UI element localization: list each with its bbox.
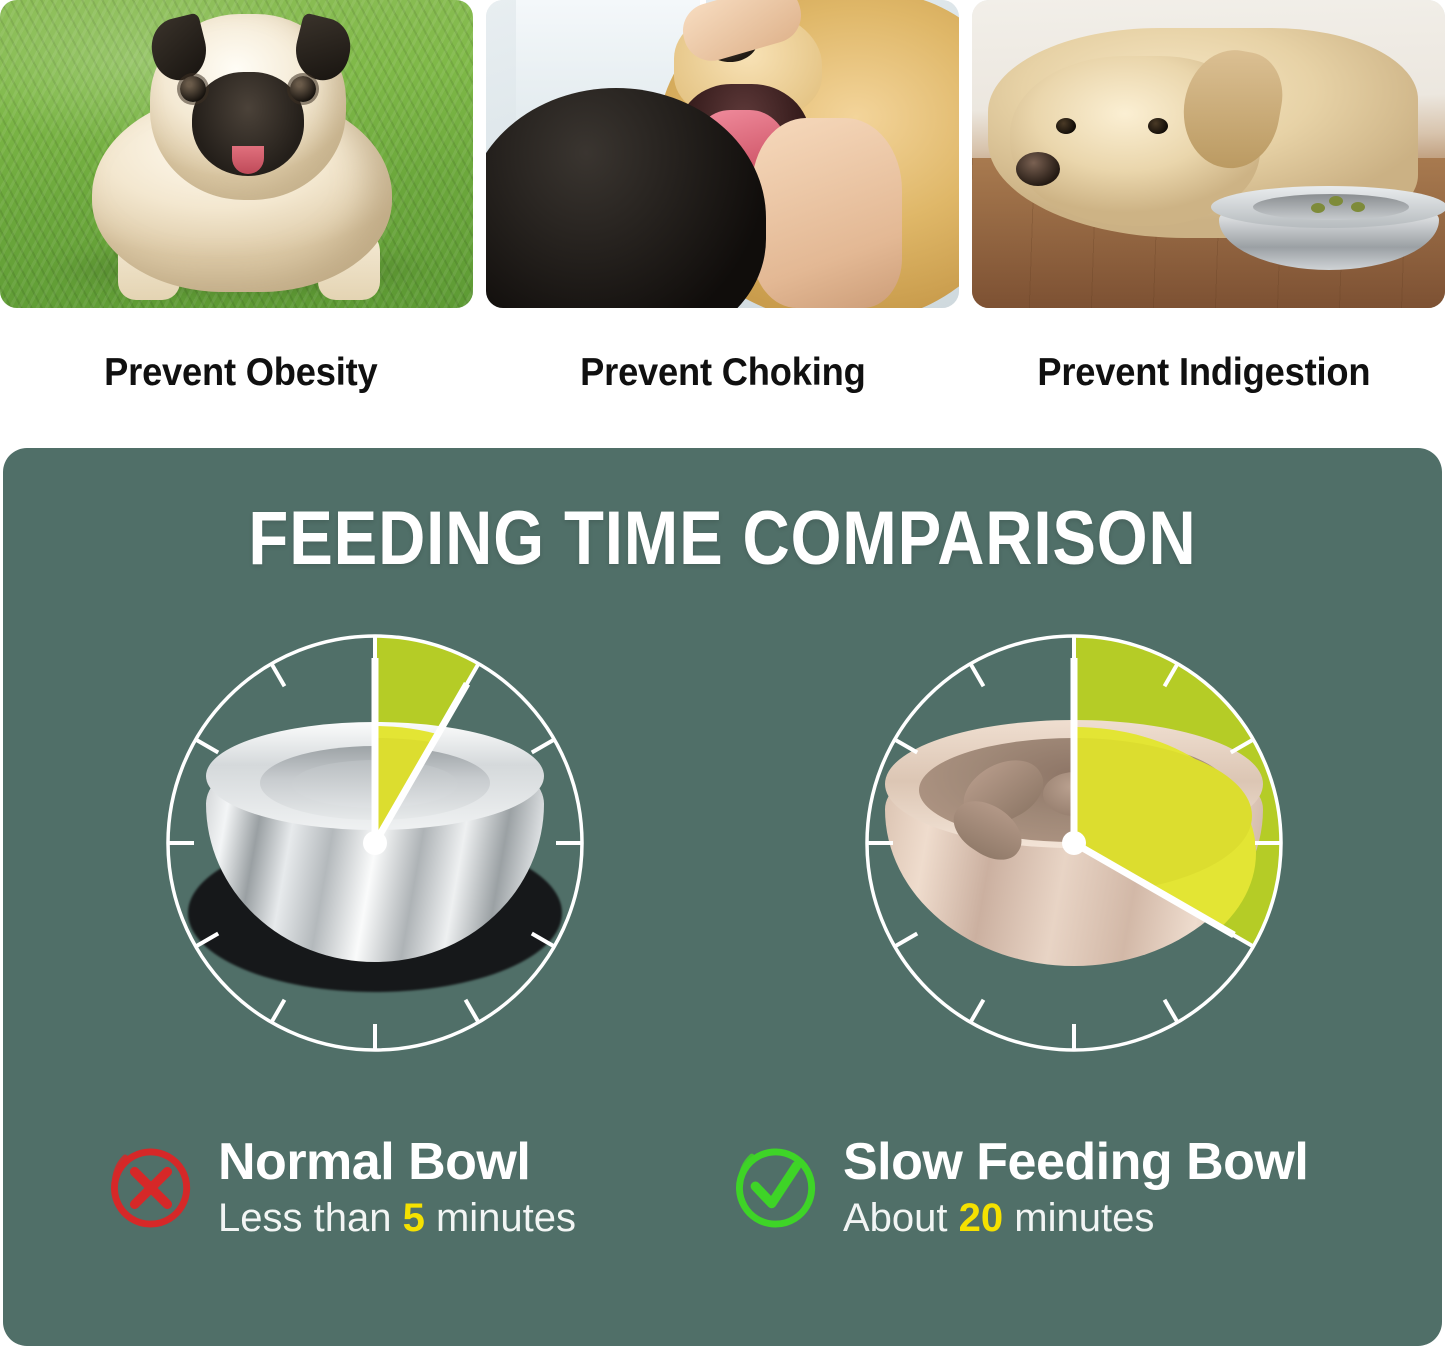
comparison-results-row: Normal Bowl Less than 5 minutes Slow Fee… [3,1132,1442,1282]
caption-prevent-choking: Prevent Choking [499,338,947,408]
result-text-group: Slow Feeding Bowl About 20 minutes [843,1132,1308,1244]
result-sub-prefix: About [843,1196,959,1240]
result-sub-value: 20 [959,1196,1004,1240]
result-subtitle: About 20 minutes [843,1192,1308,1244]
photo-prevent-choking [486,0,959,308]
result-sub-suffix: minutes [1003,1196,1154,1240]
circled-x-icon [108,1145,194,1231]
result-title: Slow Feeding Bowl [843,1132,1308,1192]
panel-title: FEEDING TIME COMPARISON [104,495,1342,582]
result-sub-value: 5 [403,1196,425,1240]
clock-overlay-layer [160,628,590,1058]
benefit-caption-row: Prevent Obesity Prevent Choking Prevent … [0,338,1445,408]
kibble-piece [1329,196,1343,206]
result-title: Normal Bowl [218,1132,576,1192]
benefit-photo-row [0,0,1445,308]
labrador-nose [1016,152,1060,186]
clock-center-hub [363,831,387,855]
kibble-piece [1351,202,1365,212]
result-subtitle: Less than 5 minutes [218,1192,576,1244]
result-sub-suffix: minutes [425,1196,576,1240]
photo-prevent-obesity [0,0,473,308]
pug-eye-left [180,76,206,102]
caption-prevent-obesity: Prevent Obesity [17,338,465,408]
result-text-group: Normal Bowl Less than 5 minutes [218,1132,576,1244]
clock-overlay-layer [859,628,1289,1058]
labrador-eye-left [1056,118,1076,134]
feeding-time-comparison-panel: FEEDING TIME COMPARISON [3,448,1442,1346]
pug-eye-right [290,76,316,102]
photo-prevent-indigestion [972,0,1445,308]
clock-comparison-row [3,628,1442,1088]
labrador-eye-right [1148,118,1168,134]
steel-food-bowl [1219,176,1439,284]
result-sub-prefix: Less than [218,1196,403,1240]
result-slow-feeding-bowl: Slow Feeding Bowl About 20 minutes [733,1132,1308,1244]
human-hand [752,118,902,308]
kibble-piece [1311,203,1325,213]
clock-center-hub [1062,831,1086,855]
caption-prevent-indigestion: Prevent Indigestion [980,338,1428,408]
normal-bowl-clock [160,628,590,1058]
slow-feeding-bowl-clock [859,628,1289,1058]
result-normal-bowl: Normal Bowl Less than 5 minutes [108,1132,576,1244]
circled-check-icon [733,1145,819,1231]
